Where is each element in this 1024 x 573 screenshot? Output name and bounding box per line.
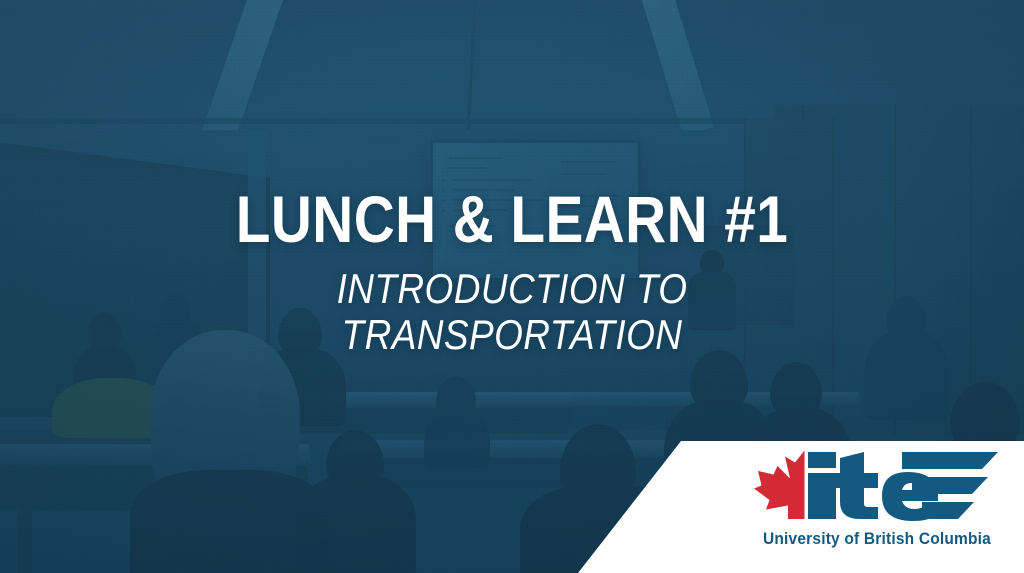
ite-logo-mark xyxy=(752,448,1002,522)
presenter-silhouette xyxy=(688,272,736,330)
desk-leg xyxy=(18,500,32,573)
maple-leaf-icon xyxy=(754,451,805,520)
presentation-slide: LUNCH & LEARN #1 INTRODUCTION TO TRANSPO… xyxy=(0,0,1024,573)
audience-foreground-person xyxy=(130,470,330,573)
audience-silhouettes xyxy=(424,412,490,468)
ite-ubc-logo: University of British Columbia xyxy=(752,448,1002,563)
audience-silhouettes xyxy=(864,332,950,420)
ite-chapter-name: University of British Columbia xyxy=(760,530,995,549)
projection-screen xyxy=(430,140,641,281)
projection-screen-content xyxy=(433,143,638,278)
ite-logo-svg xyxy=(752,448,1002,522)
